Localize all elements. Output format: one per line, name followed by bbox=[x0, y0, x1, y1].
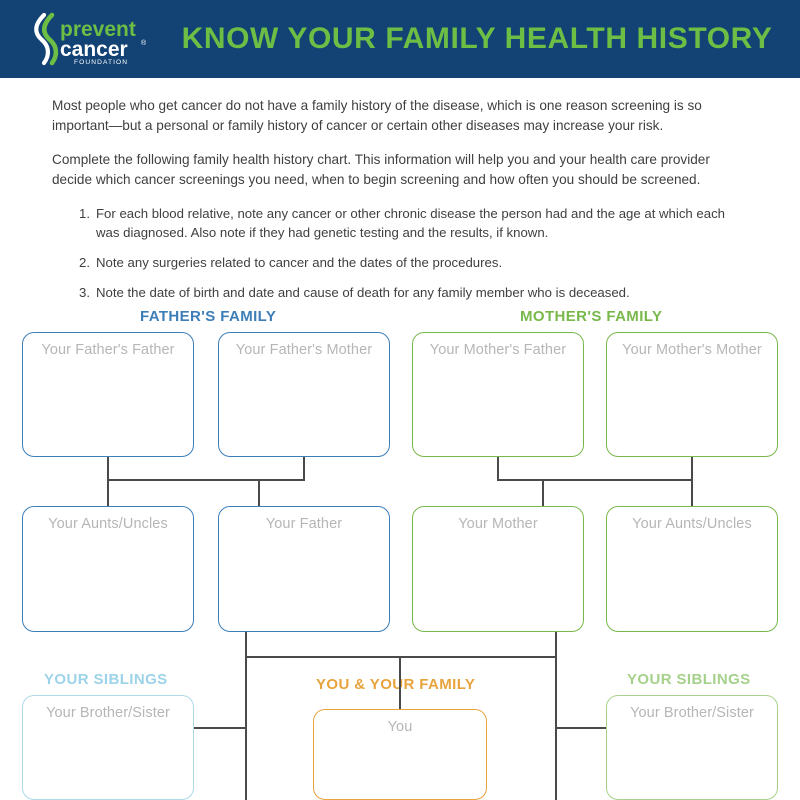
box-placeholder: Your Brother/Sister bbox=[607, 696, 777, 721]
instructions-list: 1. For each blood relative, note any can… bbox=[52, 204, 752, 302]
box-mother[interactable]: Your Mother bbox=[412, 506, 584, 632]
instruction-item-2: 2. Note any surgeries related to cancer … bbox=[74, 253, 752, 272]
box-placeholder: Your Aunts/Uncles bbox=[23, 507, 193, 532]
box-placeholder: Your Father's Mother bbox=[219, 333, 389, 358]
instruction-number: 2. bbox=[74, 253, 90, 272]
connector-line bbox=[555, 632, 557, 656]
connector-line bbox=[497, 479, 693, 481]
box-mothers-mother[interactable]: Your Mother's Mother bbox=[606, 332, 778, 457]
intro-section: Most people who get cancer do not have a… bbox=[52, 96, 752, 313]
svg-text:®: ® bbox=[141, 39, 147, 47]
connector-line bbox=[107, 479, 109, 506]
box-placeholder: Your Brother/Sister bbox=[23, 696, 193, 721]
intro-paragraph-2: Complete the following family health his… bbox=[52, 150, 752, 190]
page-title: KNOW YOUR FAMILY HEALTH HISTORY bbox=[172, 20, 782, 58]
box-you[interactable]: You bbox=[313, 709, 487, 800]
box-brother-sister-left[interactable]: Your Brother/Sister bbox=[22, 695, 194, 800]
box-placeholder: Your Mother's Father bbox=[413, 333, 583, 358]
connector-line bbox=[107, 457, 109, 479]
section-label-siblings-left: YOUR SIBLINGS bbox=[44, 671, 168, 688]
connector-line bbox=[193, 727, 247, 729]
box-fathers-father[interactable]: Your Father's Father bbox=[22, 332, 194, 457]
section-label-siblings-right: YOUR SIBLINGS bbox=[627, 671, 751, 688]
connector-line bbox=[107, 479, 305, 481]
box-placeholder: Your Mother's Mother bbox=[607, 333, 777, 358]
connector-line bbox=[691, 457, 693, 479]
box-placeholder: Your Father's Father bbox=[23, 333, 193, 358]
instruction-number: 1. bbox=[74, 204, 90, 223]
instruction-text: For each blood relative, note any cancer… bbox=[96, 206, 725, 240]
section-label-you-and-your-family: YOU & YOUR FAMILY bbox=[316, 676, 475, 693]
box-placeholder: Your Aunts/Uncles bbox=[607, 507, 777, 532]
connector-line bbox=[497, 457, 499, 479]
connector-line bbox=[258, 479, 260, 506]
box-paternal-aunts-uncles[interactable]: Your Aunts/Uncles bbox=[22, 506, 194, 632]
connector-line bbox=[555, 727, 607, 729]
instruction-item-1: 1. For each blood relative, note any can… bbox=[74, 204, 752, 242]
section-label-mothers-family: MOTHER'S FAMILY bbox=[520, 308, 662, 325]
connector-line bbox=[399, 656, 401, 709]
box-father[interactable]: Your Father bbox=[218, 506, 390, 632]
connector-line bbox=[245, 632, 247, 656]
box-placeholder: Your Mother bbox=[413, 507, 583, 532]
box-mothers-father[interactable]: Your Mother's Father bbox=[412, 332, 584, 457]
box-maternal-aunts-uncles[interactable]: Your Aunts/Uncles bbox=[606, 506, 778, 632]
connector-line bbox=[245, 656, 557, 658]
box-placeholder: You bbox=[314, 710, 486, 735]
connector-line bbox=[691, 479, 693, 506]
box-brother-sister-right[interactable]: Your Brother/Sister bbox=[606, 695, 778, 800]
box-fathers-mother[interactable]: Your Father's Mother bbox=[218, 332, 390, 457]
instruction-text: Note any surgeries related to cancer and… bbox=[96, 255, 502, 270]
connector-line bbox=[303, 457, 305, 479]
box-placeholder: Your Father bbox=[219, 507, 389, 532]
family-tree-chart: FATHER'S FAMILY MOTHER'S FAMILY YOUR SIB… bbox=[0, 295, 800, 800]
prevent-cancer-foundation-logo: prevent cancer ® FOUNDATION bbox=[28, 9, 168, 69]
connector-line bbox=[542, 479, 544, 506]
page-header: prevent cancer ® FOUNDATION KNOW YOUR FA… bbox=[0, 0, 800, 78]
svg-text:FOUNDATION: FOUNDATION bbox=[74, 59, 128, 66]
section-label-fathers-family: FATHER'S FAMILY bbox=[140, 308, 276, 325]
svg-text:cancer: cancer bbox=[60, 38, 128, 61]
intro-paragraph-1: Most people who get cancer do not have a… bbox=[52, 96, 752, 136]
